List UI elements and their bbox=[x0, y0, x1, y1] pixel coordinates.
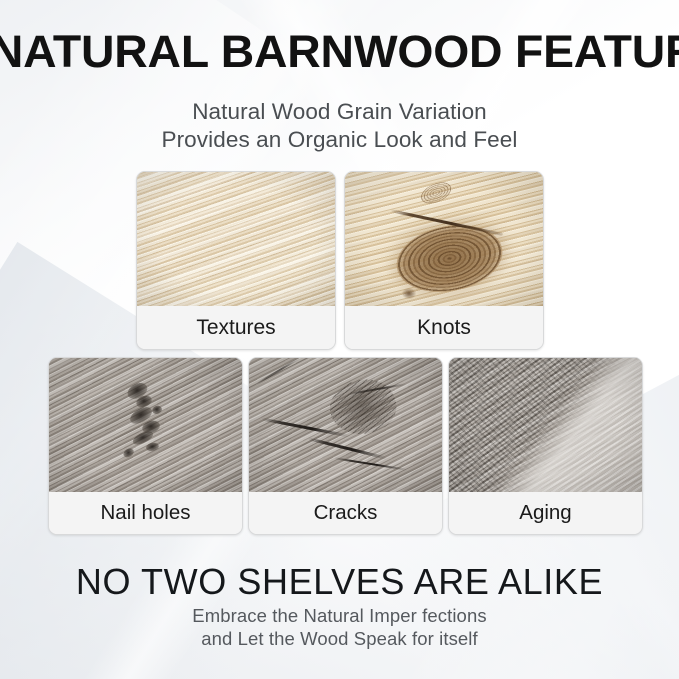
feature-caption-textures: Textures bbox=[137, 306, 335, 349]
feature-caption-knots: Knots bbox=[345, 306, 543, 349]
page-title: NATURAL BARNWOOD FEATURES bbox=[0, 26, 679, 78]
infographic-poster: NATURAL BARNWOOD FEATURES Natural Wood G… bbox=[0, 0, 679, 679]
footer-subtitle-line-2: and Let the Wood Speak for itself bbox=[0, 627, 679, 650]
aging-light-band-grain bbox=[449, 358, 642, 493]
nail-holes-photo bbox=[49, 358, 242, 493]
page-subtitle-line-1: Natural Wood Grain Variation bbox=[0, 98, 679, 126]
feature-tile-knots: Knots bbox=[344, 171, 544, 350]
feature-tile-cracks: Cracks bbox=[248, 357, 443, 535]
page-subtitle-line-2: Provides an Organic Look and Feel bbox=[0, 126, 679, 154]
wood-grain-texture bbox=[137, 172, 335, 307]
footer-subtitle-line-1: Embrace the Natural Imper fections bbox=[0, 604, 679, 627]
aging-photo bbox=[449, 358, 642, 493]
feature-tile-textures: Textures bbox=[136, 171, 336, 350]
knots-photo bbox=[345, 172, 543, 307]
textures-photo bbox=[137, 172, 335, 307]
page-subtitle: Natural Wood Grain Variation Provides an… bbox=[0, 98, 679, 154]
feature-caption-cracks: Cracks bbox=[249, 492, 442, 534]
feature-caption-aging: Aging bbox=[449, 492, 642, 534]
footer-headline: NO TWO SHELVES ARE ALIKE bbox=[0, 561, 679, 603]
feature-tile-aging: Aging bbox=[448, 357, 643, 535]
feature-caption-nail-holes: Nail holes bbox=[49, 492, 242, 534]
nail-hole-cluster bbox=[122, 382, 176, 466]
feature-tile-nail-holes: Nail holes bbox=[48, 357, 243, 535]
cracks-photo bbox=[249, 358, 442, 493]
footer-subtitle: Embrace the Natural Imper fections and L… bbox=[0, 604, 679, 650]
